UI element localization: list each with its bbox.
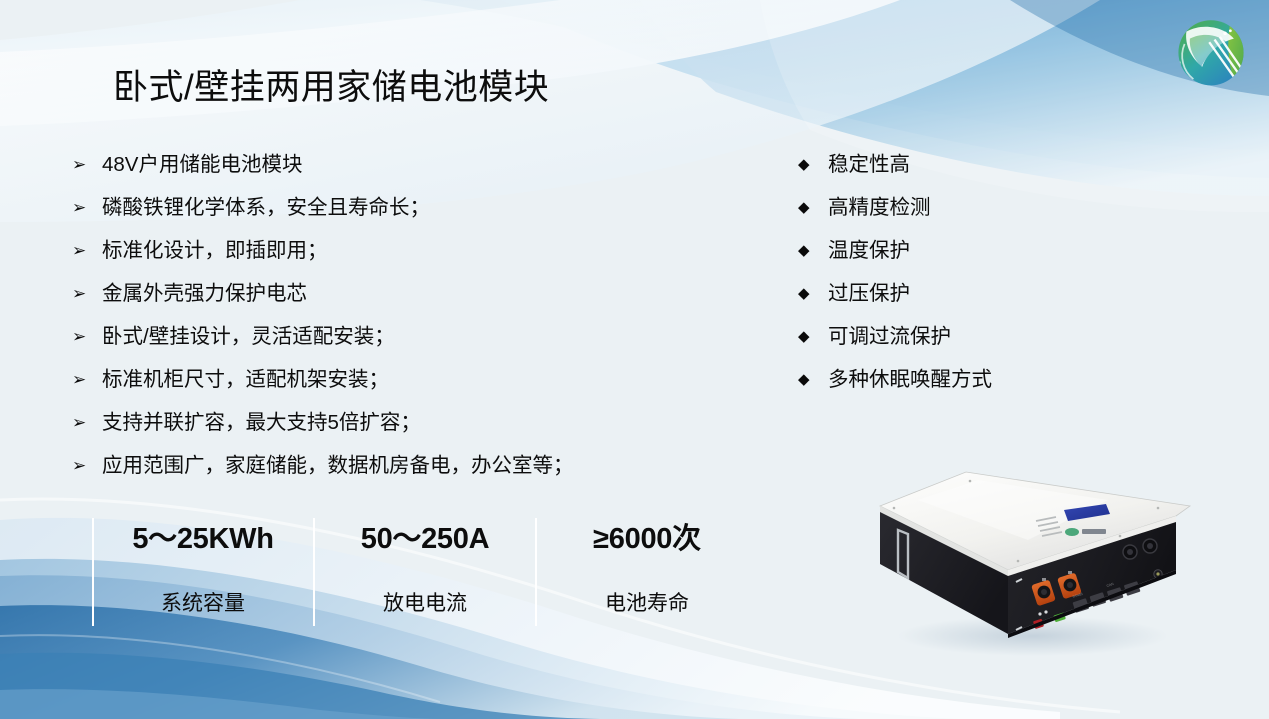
battery-module-photo: RS485 CAN xyxy=(858,448,1198,658)
diamond-bullet-icon: ◆ xyxy=(798,329,828,344)
arrow-bullet-icon: ➢ xyxy=(72,200,102,217)
list-item-label: 多种休眠唤醒方式 xyxy=(828,370,992,391)
diamond-bullet-icon: ◆ xyxy=(798,286,828,301)
spec-highlight-strip: 5～25KWh 系统容量 50～250A 放电电流 ≥6000次 电池寿命 xyxy=(92,515,752,625)
spec-cell-cycles: ≥6000次 电池寿命 xyxy=(542,515,752,625)
spec-label: 系统容量 xyxy=(98,587,308,617)
list-item: ➢ 金属外壳强力保护电芯 xyxy=(72,284,712,327)
diamond-bullet-icon: ◆ xyxy=(798,157,828,172)
list-item-label: 可调过流保护 xyxy=(828,327,951,348)
diamond-bullet-icon: ◆ xyxy=(798,200,828,215)
arrow-bullet-icon: ➢ xyxy=(72,415,102,432)
list-item: ➢ 支持并联扩容，最大支持5倍扩容； xyxy=(72,413,712,456)
list-item: ➢ 磷酸铁锂化学体系，安全且寿命长； xyxy=(72,198,712,241)
list-item: ➢ 标准机柜尺寸，适配机架安装； xyxy=(72,370,712,413)
list-item-label: 应用范围广，家庭储能，数据机房备电，办公室等； xyxy=(102,456,574,477)
slide-title: 卧式/壁挂两用家储电池模块 xyxy=(113,59,549,110)
list-item: ➢ 应用范围广，家庭储能，数据机房备电，办公室等； xyxy=(72,456,712,499)
list-item-label: 过压保护 xyxy=(828,284,910,305)
list-item: ➢ 48V户用储能电池模块 xyxy=(72,155,712,198)
list-item-label: 高精度检测 xyxy=(828,198,931,219)
spec-value: 5～25KWh xyxy=(98,515,308,557)
list-item: ➢ 标准化设计，即插即用； xyxy=(72,241,712,284)
list-item-label: 温度保护 xyxy=(828,241,910,262)
spec-label: 电池寿命 xyxy=(542,587,752,617)
list-item-label: 标准机柜尺寸，适配机架安装； xyxy=(102,370,389,391)
spec-cell-capacity: 5～25KWh 系统容量 xyxy=(98,515,308,625)
diamond-bullet-icon: ◆ xyxy=(798,372,828,387)
slide-canvas: 卧式/壁挂两用家储电池模块 ➢ 48V户用储能电池模块 ➢ 磷酸铁锂化学体系，安… xyxy=(0,0,1269,719)
spec-divider xyxy=(313,518,315,626)
spec-cell-current: 50～250A 放电电流 xyxy=(320,515,530,625)
list-item: ◆ 高精度检测 xyxy=(798,198,1128,241)
company-leaf-logo xyxy=(1167,7,1255,95)
list-item-label: 48V户用储能电池模块 xyxy=(102,155,302,176)
list-item-label: 金属外壳强力保护电芯 xyxy=(102,284,307,305)
right-feature-list: ◆ 稳定性高 ◆ 高精度检测 ◆ 温度保护 ◆ 过压保护 ◆ 可调过流保护 ◆ … xyxy=(798,155,1128,413)
list-item: ◆ 多种休眠唤醒方式 xyxy=(798,370,1128,413)
list-item-label: 卧式/壁挂设计，灵活适配安装； xyxy=(102,327,395,348)
spec-label: 放电电流 xyxy=(320,587,530,617)
arrow-bullet-icon: ➢ xyxy=(72,286,102,303)
list-item-label: 磷酸铁锂化学体系，安全且寿命长； xyxy=(102,198,430,219)
spec-value: 50～250A xyxy=(320,515,530,557)
list-item: ◆ 温度保护 xyxy=(798,241,1128,284)
spec-divider xyxy=(92,518,94,626)
arrow-bullet-icon: ➢ xyxy=(72,157,102,174)
list-item: ➢ 卧式/壁挂设计，灵活适配安装； xyxy=(72,327,712,370)
left-feature-list: ➢ 48V户用储能电池模块 ➢ 磷酸铁锂化学体系，安全且寿命长； ➢ 标准化设计… xyxy=(72,155,712,499)
list-item: ◆ 可调过流保护 xyxy=(798,327,1128,370)
spec-divider xyxy=(535,518,537,626)
list-item-label: 支持并联扩容，最大支持5倍扩容； xyxy=(102,413,421,434)
list-item: ◆ 稳定性高 xyxy=(798,155,1128,198)
list-item-label: 稳定性高 xyxy=(828,155,910,176)
arrow-bullet-icon: ➢ xyxy=(72,243,102,260)
list-item-label: 标准化设计，即插即用； xyxy=(102,241,328,262)
diamond-bullet-icon: ◆ xyxy=(798,243,828,258)
list-item: ◆ 过压保护 xyxy=(798,284,1128,327)
arrow-bullet-icon: ➢ xyxy=(72,458,102,475)
spec-value: ≥6000次 xyxy=(542,515,752,557)
arrow-bullet-icon: ➢ xyxy=(72,372,102,389)
arrow-bullet-icon: ➢ xyxy=(72,329,102,346)
